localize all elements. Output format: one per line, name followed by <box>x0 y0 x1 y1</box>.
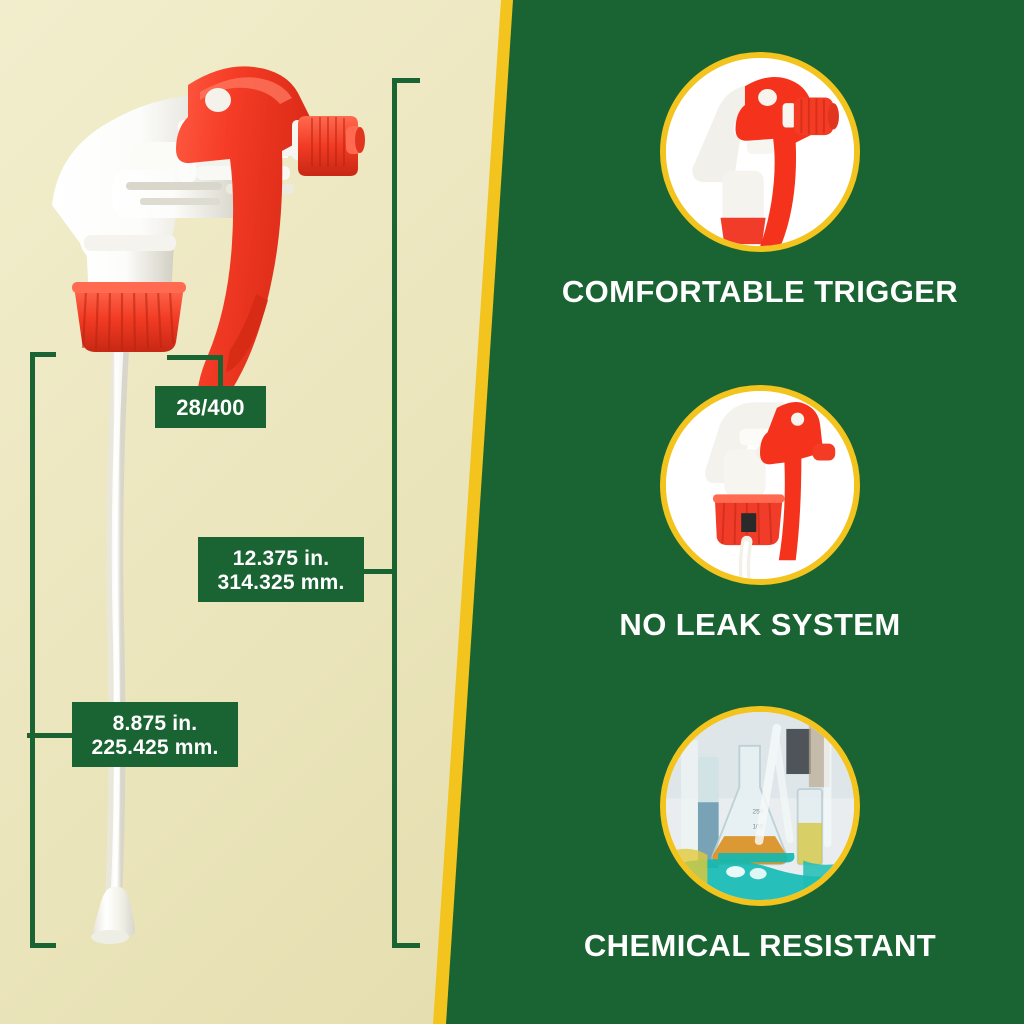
feature-no-leak-system: NO LEAK SYSTEM <box>500 385 1020 643</box>
feature-title-chemical-resistant: CHEMICAL RESISTANT <box>500 928 1020 964</box>
feature-image-laboratory-glassware: 250 100 <box>660 706 860 906</box>
feature-comfortable-trigger: COMFORTABLE TRIGGER <box>500 52 1020 310</box>
sprayer-trigger-closeup-icon <box>666 58 854 246</box>
feature-title-comfortable-trigger: COMFORTABLE TRIGGER <box>500 274 1020 310</box>
callout-overall-length-mm: 314.325 mm. <box>198 571 364 595</box>
dip-tube-bracket <box>30 352 35 948</box>
neck-finish-leader-horizontal <box>167 355 223 360</box>
callout-dip-tube-mm: 225.425 mm. <box>72 736 238 760</box>
sprayer-cap-closeup-icon <box>666 391 854 579</box>
callout-dip-tube-inches: 8.875 in. <box>72 712 238 736</box>
overall-length-bracket-top <box>392 78 420 83</box>
laboratory-glassware-icon: 250 100 <box>666 712 854 900</box>
overall-length-leader <box>362 569 396 574</box>
callout-overall-length: 12.375 in. 314.325 mm. <box>198 537 364 602</box>
dip-tube-bracket-top <box>30 352 56 357</box>
overall-length-bracket-bottom <box>392 943 420 948</box>
callout-dip-tube-length: 8.875 in. 225.425 mm. <box>72 702 238 767</box>
callout-neck-finish: 28/400 <box>155 386 266 428</box>
callout-neck-finish-text: 28/400 <box>155 395 266 420</box>
trigger-sprayer-image <box>0 0 440 1000</box>
dip-tube-bracket-bottom <box>30 943 56 948</box>
overall-length-bracket <box>392 78 397 948</box>
callout-overall-length-inches: 12.375 in. <box>198 547 364 571</box>
dip-tube-leader <box>27 733 77 738</box>
feature-image-sprayer-trigger-closeup <box>660 52 860 252</box>
feature-chemical-resistant: 250 100 CHEMICAL RESISTANT <box>500 706 1020 964</box>
product-infographic: 28/400 12.375 in. 314.325 mm. 8.875 in. … <box>0 0 1024 1024</box>
feature-title-no-leak-system: NO LEAK SYSTEM <box>500 607 1020 643</box>
feature-image-sprayer-cap-closeup <box>660 385 860 585</box>
